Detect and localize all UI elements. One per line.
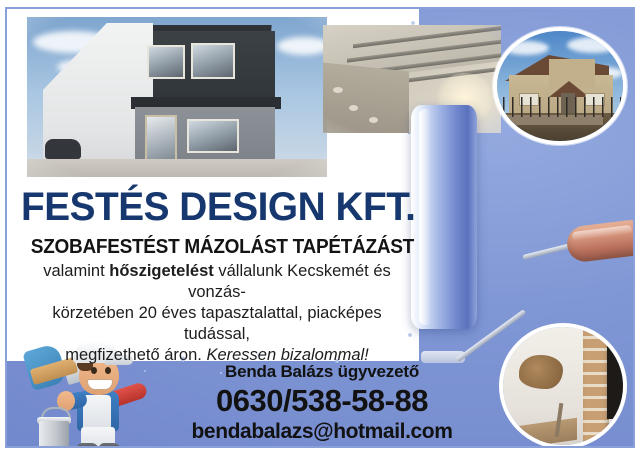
- photo-wall-patch: [349, 105, 358, 111]
- body-line-2: körzetében 20 éves tapasztalattal, piack…: [19, 303, 415, 345]
- drywall-ceiling-photo: [323, 25, 501, 133]
- photo-wall-patch: [369, 117, 378, 123]
- body-line1-bold: hőszigetelést: [109, 262, 214, 280]
- company-headline: FESTÉS DESIGN KFT.: [21, 185, 401, 229]
- contact-block: Benda Balázs ügyvezető 0630/538-58-88 be…: [157, 361, 487, 445]
- photo-doorway-dark: [607, 337, 623, 419]
- photo-window: [147, 45, 185, 79]
- body-line1-pre: valamint: [43, 262, 109, 280]
- contact-email[interactable]: bendabalazs@hotmail.com: [157, 419, 487, 445]
- photo-cloud: [503, 41, 549, 55]
- photo-cloud: [277, 37, 327, 55]
- photo-window: [191, 43, 235, 79]
- services-subheading: SZOBAFESTÉST MÁZOLÁST TAPÉTÁZÁST: [31, 235, 403, 259]
- mascot-shoe: [99, 443, 121, 448]
- mascot-paint-can: [39, 421, 69, 448]
- photo-car: [45, 139, 81, 159]
- mascot-smile: [87, 379, 113, 390]
- mascot-eye: [91, 367, 97, 374]
- photo-ground: [27, 159, 327, 177]
- brick-wall-round-photo: [499, 323, 627, 448]
- mascot-eye: [105, 367, 111, 374]
- mascot-shoe: [77, 443, 99, 448]
- photo-fence: [503, 97, 621, 117]
- body-copy: valamint hőszigetelést vállalunk Kecskem…: [19, 261, 415, 366]
- body-line1-post: vállalunk Kecskemét és vonzás-: [188, 262, 391, 301]
- advertisement-poster: FESTÉS DESIGN KFT. SZOBAFESTÉST MÁZOLÁST…: [0, 0, 640, 455]
- body-line-1: valamint hőszigetelést vállalunk Kecskem…: [19, 261, 415, 303]
- contact-name: Benda Balázs ügyvezető: [157, 361, 487, 383]
- photo-plaster-patch: [519, 355, 563, 389]
- photo-side-wall: [323, 62, 409, 133]
- photo-cloud: [567, 37, 619, 53]
- photo-light-glow: [435, 73, 495, 123]
- modern-house-photo: [27, 17, 327, 177]
- photo-wall-patch: [333, 87, 343, 93]
- ad-border-frame: FESTÉS DESIGN KFT. SZOBAFESTÉST MÁZOLÁST…: [5, 7, 635, 448]
- photo-brick-corner: [583, 327, 609, 445]
- beige-house-round-photo: [493, 27, 627, 145]
- photo-window: [187, 119, 239, 153]
- contact-phone[interactable]: 0630/538-58-88: [157, 383, 487, 419]
